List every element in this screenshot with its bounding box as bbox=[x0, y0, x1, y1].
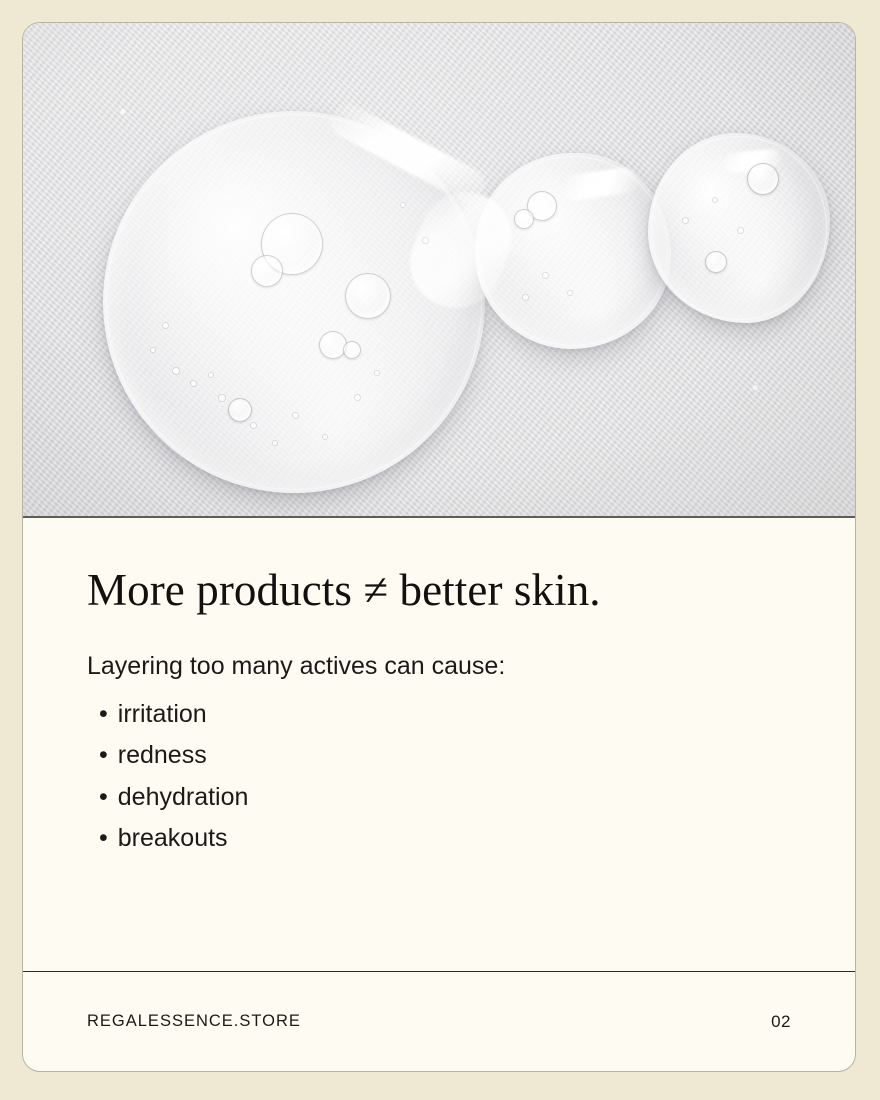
slide-card: More products ≠ better skin. Layering to… bbox=[22, 22, 856, 1072]
body-text: Layering too many actives can cause: bbox=[87, 649, 607, 685]
list-item-label: breakouts bbox=[118, 820, 228, 856]
slide-footer: REGALESSENCE.STORE 02 bbox=[23, 971, 855, 1071]
bullet-icon: • bbox=[99, 820, 108, 856]
list-item: • breakouts bbox=[99, 820, 791, 856]
list-item-label: dehydration bbox=[118, 779, 249, 815]
list-item-label: irritation bbox=[118, 696, 207, 732]
headline: More products ≠ better skin. bbox=[87, 566, 791, 615]
bullet-icon: • bbox=[99, 696, 108, 732]
list-item-label: redness bbox=[118, 737, 207, 773]
bullet-icon: • bbox=[99, 779, 108, 815]
list-item: • redness bbox=[99, 737, 791, 773]
bullet-icon: • bbox=[99, 737, 108, 773]
brand-label: REGALESSENCE.STORE bbox=[87, 1012, 301, 1031]
list-item: • dehydration bbox=[99, 779, 791, 815]
content-area: More products ≠ better skin. Layering to… bbox=[23, 518, 855, 971]
serum-droplets-photo bbox=[23, 23, 855, 518]
list-item: • irritation bbox=[99, 696, 791, 732]
page-number: 02 bbox=[771, 1012, 791, 1032]
symptom-list: • irritation • redness • dehydration • b… bbox=[87, 696, 791, 861]
photo-vignette bbox=[23, 23, 855, 516]
